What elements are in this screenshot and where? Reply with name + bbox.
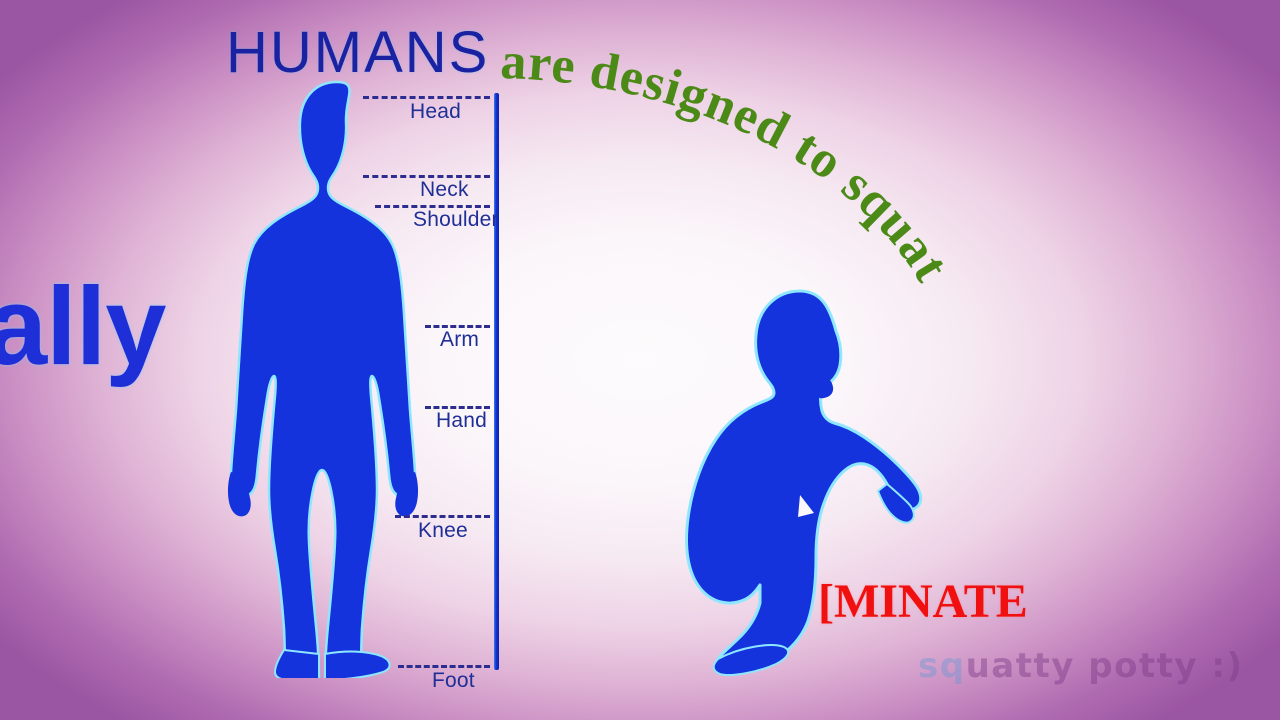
measurement-ruler-line	[494, 93, 499, 670]
scene-canvas: HeadNeckShoulderArmHandKneeFoot HUMANS a…	[0, 0, 1280, 720]
ruler-tick-head	[363, 96, 490, 99]
ruler-label-hand: Hand	[436, 409, 487, 433]
brand-watermark: squatty potty :)	[918, 649, 1244, 683]
watermark-suffix: uatty potty :)	[966, 646, 1244, 686]
ruler-label-foot: Foot	[432, 669, 475, 693]
ruler-tick-foot	[398, 665, 490, 668]
ruler-label-head: Head	[410, 100, 461, 124]
ruler-label-neck: Neck	[420, 178, 469, 202]
ruler-tick-knee	[395, 515, 490, 518]
headline-arc-text: are designed to squat	[499, 33, 960, 292]
ruler-label-arm: Arm	[440, 328, 479, 352]
headline-arc-text-svg: are designed to squat	[0, 0, 1280, 720]
headline-arc-textpath: are designed to squat	[499, 33, 960, 292]
standing-human-silhouette	[225, 78, 450, 678]
ruler-label-shoulder: Shoulder	[413, 208, 499, 232]
red-partial-word: [MINATE	[818, 578, 1028, 626]
ruler-label-knee: Knee	[418, 519, 468, 543]
left-partial-word: ally	[0, 272, 165, 382]
headline-humans-word: HUMANS	[226, 24, 489, 82]
watermark-prefix: sq	[918, 646, 966, 686]
